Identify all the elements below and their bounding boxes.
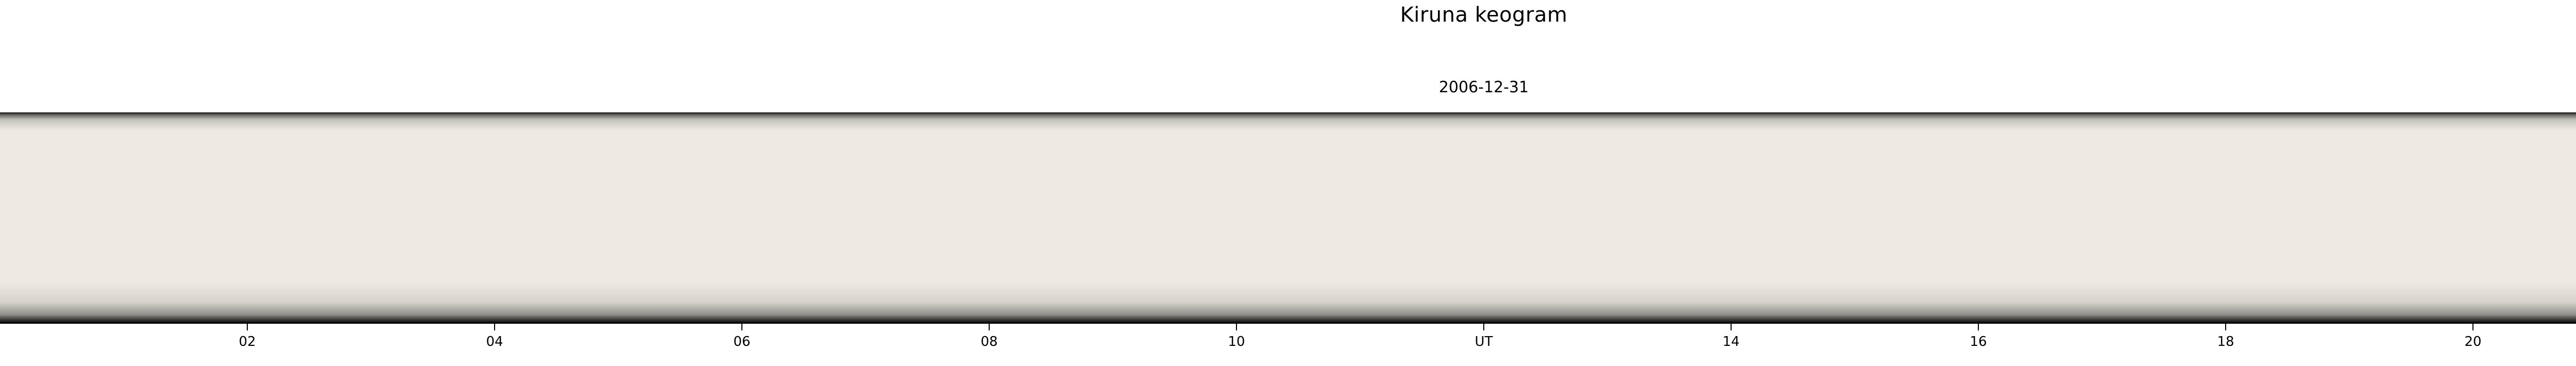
x-axis-tick bbox=[247, 323, 248, 330]
x-axis-tick-label: 04 bbox=[486, 334, 503, 350]
x-axis-tick-label: 20 bbox=[2464, 334, 2481, 350]
page-title: Kiruna keogram bbox=[0, 3, 2576, 27]
x-axis-tick bbox=[1731, 323, 1732, 330]
x-axis-tick-label: 10 bbox=[1228, 334, 1245, 350]
x-axis-tick-label: 02 bbox=[239, 334, 256, 350]
x-axis-tick-label: 08 bbox=[980, 334, 997, 350]
x-axis-tick bbox=[2225, 323, 2226, 330]
x-axis-tick-label: 18 bbox=[2217, 334, 2234, 350]
x-axis-tick-label: 16 bbox=[1970, 334, 1987, 350]
x-axis-tick-label: 14 bbox=[1722, 334, 1739, 350]
keogram-image bbox=[0, 112, 2576, 323]
x-axis-tick bbox=[1483, 323, 1484, 330]
x-axis-tick-label: UT bbox=[1475, 334, 1493, 350]
x-axis-tick bbox=[2472, 323, 2473, 330]
x-axis-tick bbox=[989, 323, 990, 330]
x-axis-tick bbox=[1236, 323, 1237, 330]
x-axis-tick bbox=[494, 323, 495, 330]
x-axis-tick bbox=[1978, 323, 1979, 330]
x-axis-line bbox=[0, 323, 2576, 324]
horizon-vignette bbox=[0, 112, 2576, 323]
x-axis-tick-label: 06 bbox=[733, 334, 750, 350]
chart-subtitle-date: 2006-12-31 bbox=[0, 78, 2576, 96]
x-axis-tick bbox=[741, 323, 742, 330]
